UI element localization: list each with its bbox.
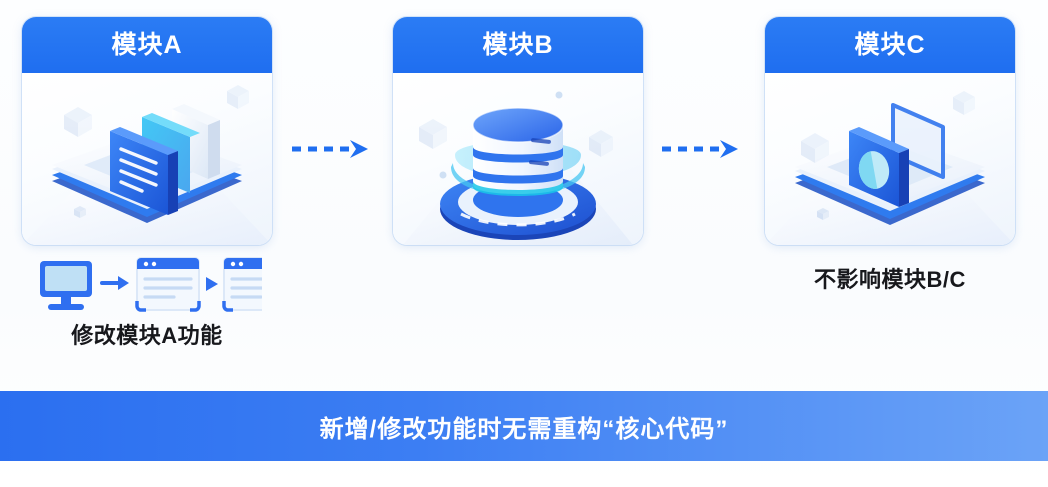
- caption-no-impact-text: 不影响模块B/C: [765, 262, 1015, 294]
- document-stack-isometric-icon: [22, 73, 272, 245]
- window-panel-isometric-icon: [765, 73, 1015, 245]
- module-card-c-header: 模块C: [765, 17, 1015, 73]
- database-cylinder-isometric-icon: [393, 73, 643, 245]
- module-card-a[interactable]: 模块A: [22, 17, 272, 245]
- module-card-b-header: 模块B: [393, 17, 643, 73]
- connector-a-to-b: [290, 136, 380, 162]
- module-card-c-title: 模块C: [854, 33, 925, 58]
- diagram-canvas: 模块A: [0, 0, 1048, 487]
- module-card-a-body: [22, 73, 272, 245]
- caption-modify-module-a-icons: [32, 255, 262, 313]
- bottom-banner: 新增/修改功能时无需重构“核心代码”: [0, 391, 1048, 461]
- module-card-a-title: 模块A: [111, 33, 182, 58]
- bottom-banner-text: 新增/修改功能时无需重构“核心代码”: [320, 409, 729, 444]
- module-card-c[interactable]: 模块C: [765, 17, 1015, 245]
- caption-no-impact: 不影响模块B/C: [765, 262, 1015, 294]
- module-card-b-body: [393, 73, 643, 245]
- arrow-right-icon: [102, 276, 129, 290]
- caption-modify-module-a: 修改模块A功能: [22, 255, 272, 350]
- document-window-icon: [224, 258, 262, 310]
- module-card-a-header: 模块A: [22, 17, 272, 73]
- module-card-c-body: [765, 73, 1015, 245]
- desktop-monitor-icon: [40, 261, 92, 310]
- triangle-right-icon: [206, 277, 218, 291]
- document-window-icon: [137, 258, 199, 310]
- caption-modify-module-a-text: 修改模块A功能: [22, 318, 272, 350]
- module-card-b-title: 模块B: [482, 33, 553, 58]
- module-card-b[interactable]: 模块B: [393, 17, 643, 245]
- connector-b-to-c: [660, 136, 750, 162]
